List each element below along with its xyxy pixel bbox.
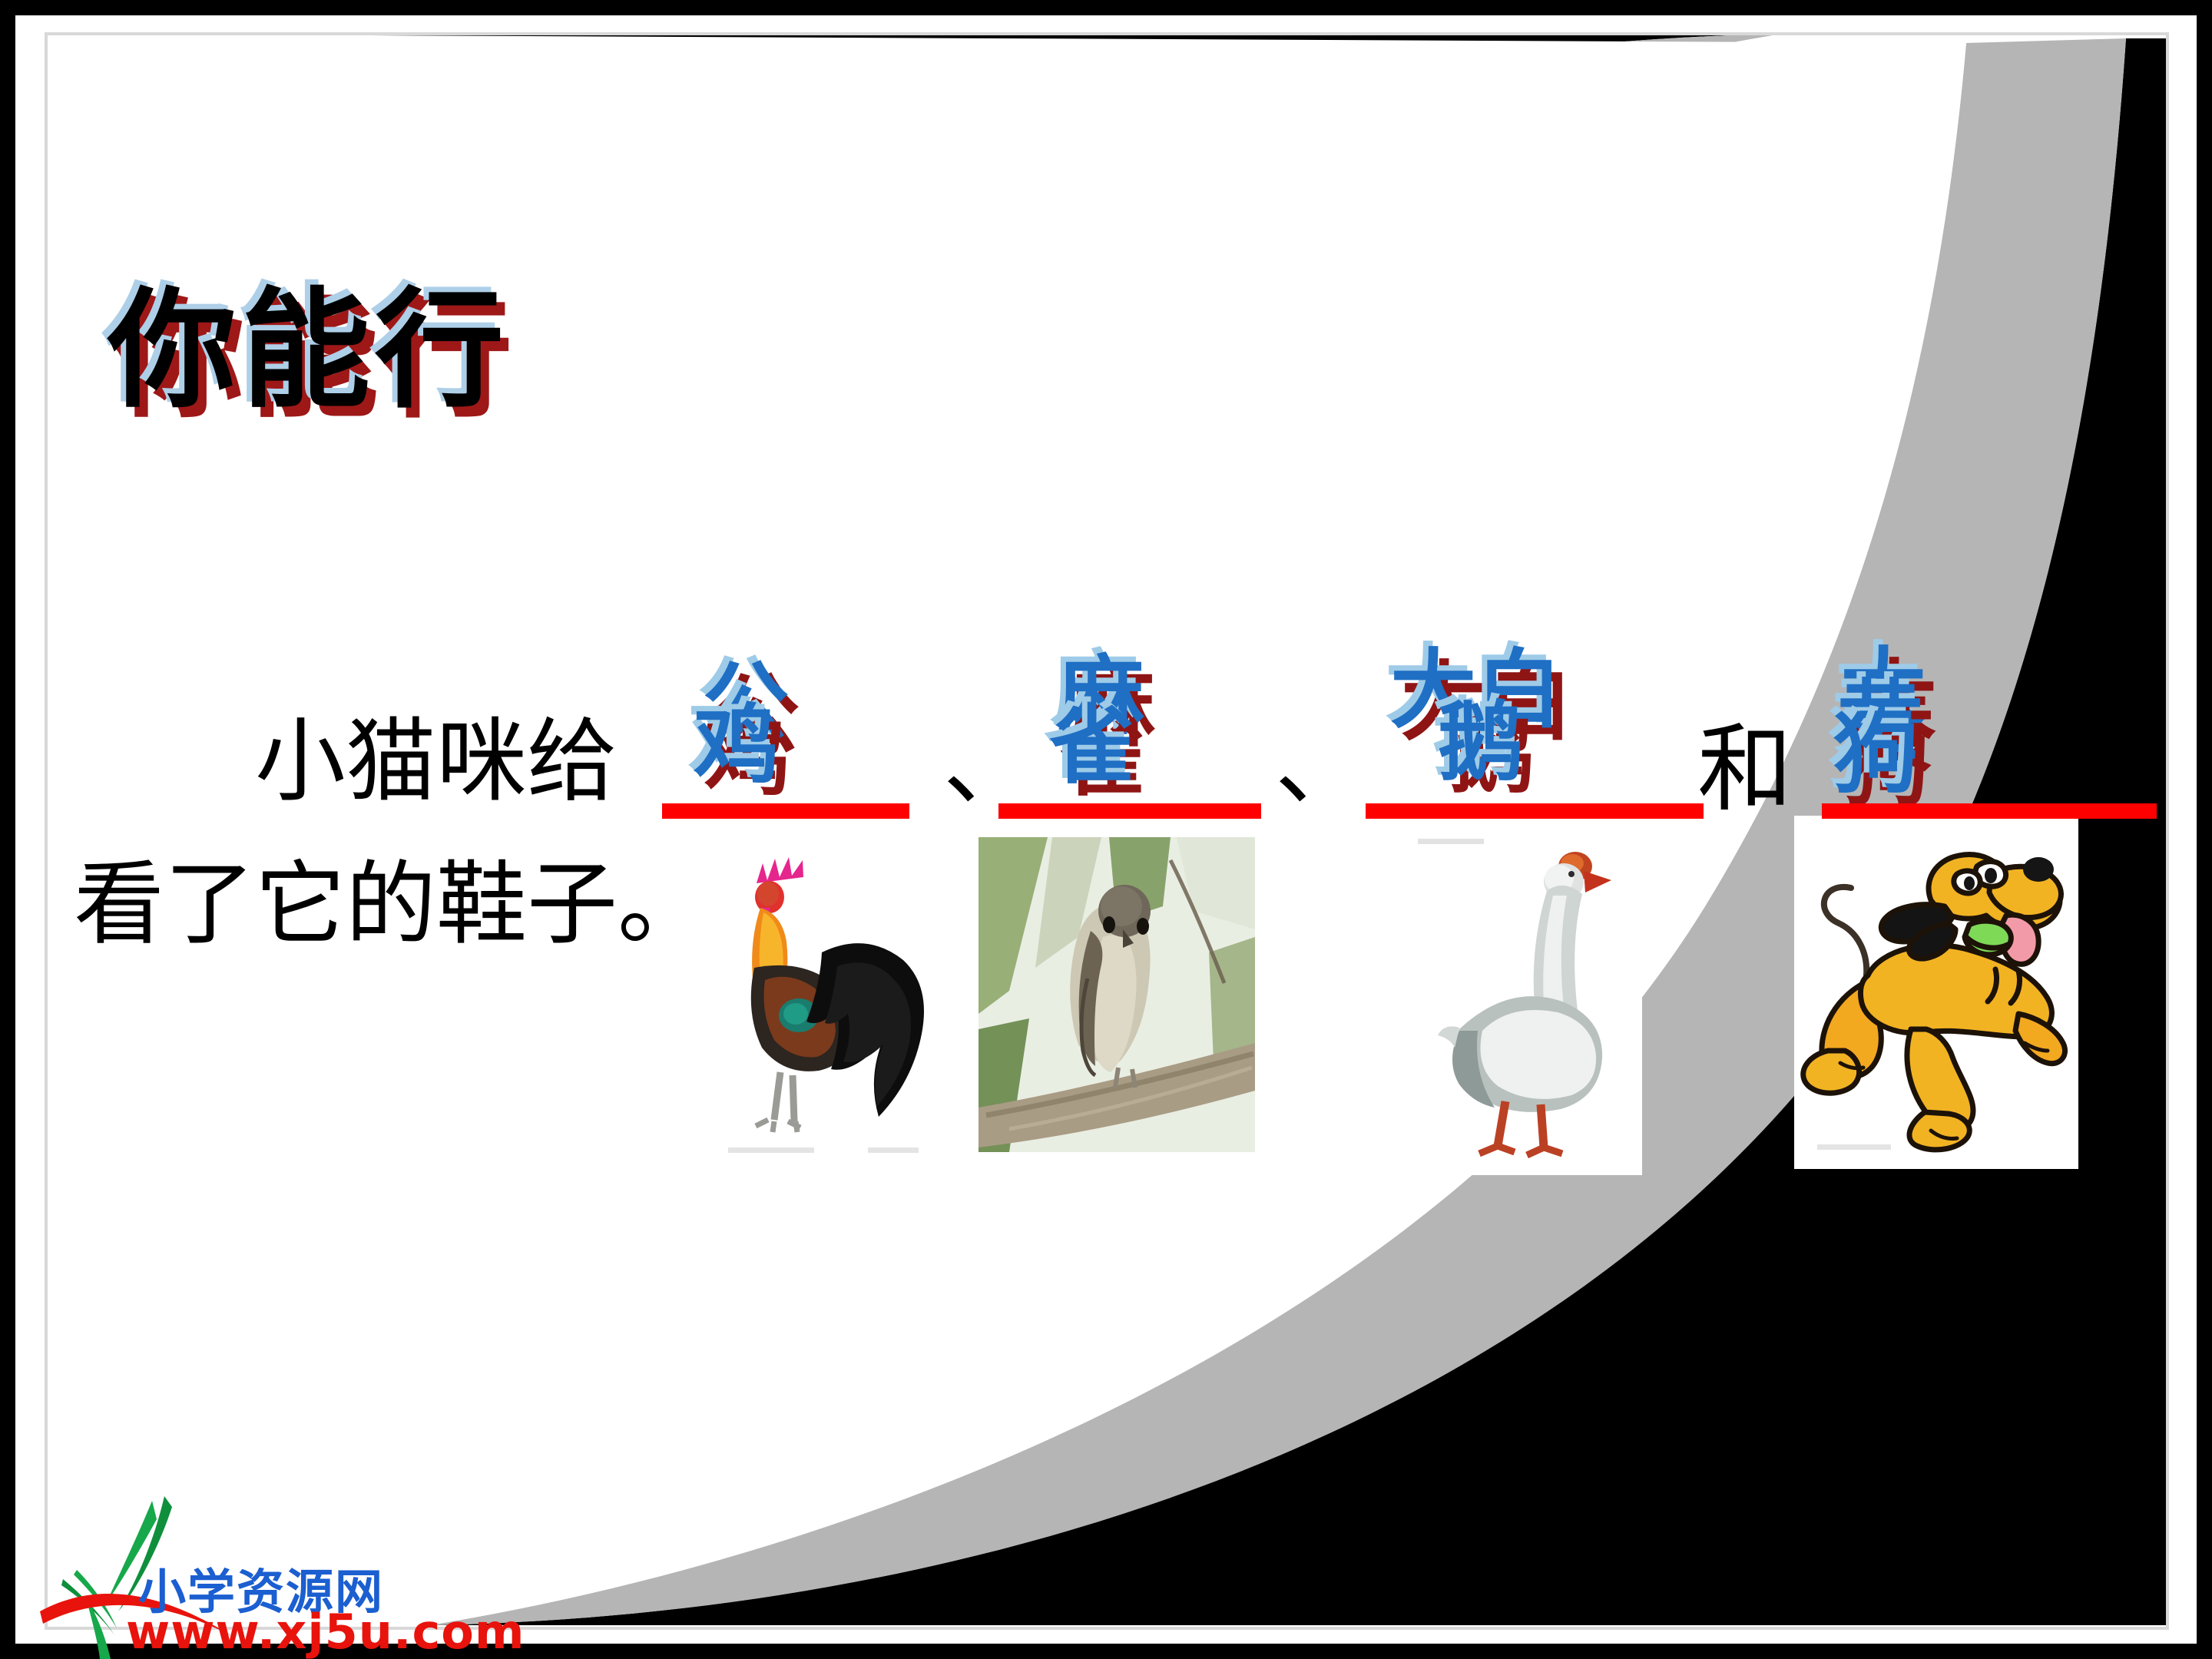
sparrow-illustration bbox=[979, 837, 1255, 1152]
body-line1-text: 小猫咪给 bbox=[255, 708, 618, 814]
page-title: 你能行 你能行 你能行 bbox=[108, 286, 508, 415]
watermark-url: www.xj5u.com bbox=[126, 1604, 525, 1659]
picture-goose bbox=[1412, 822, 1642, 1175]
conjunction-he: 和 bbox=[1697, 691, 1793, 829]
body-line-1: 小猫咪给 bbox=[74, 691, 618, 831]
title-main-layer: 你能行 bbox=[108, 275, 508, 426]
maque-bottom-main: 雀 bbox=[1049, 713, 1135, 780]
goose-illustration bbox=[1412, 822, 1642, 1175]
separator-2: 、 bbox=[1275, 691, 1366, 823]
watermark: 小学资源网 www.xj5u.com bbox=[40, 1488, 516, 1659]
blank-underline-1 bbox=[662, 803, 909, 819]
body-line-2: 看了它的鞋子。 bbox=[74, 834, 708, 974]
dabaie-bottom-main: 鹅 bbox=[1438, 710, 1524, 777]
blank-underline-2 bbox=[998, 803, 1261, 819]
blank-underline-4 bbox=[1822, 803, 2157, 819]
gongji-bottom-main: 鸡 bbox=[694, 713, 780, 780]
blank-underline-3 bbox=[1366, 803, 1704, 819]
rooster-illustration bbox=[714, 837, 937, 1167]
picture-dog bbox=[1794, 816, 2078, 1169]
picture-sparrow bbox=[979, 837, 1255, 1152]
slide-canvas: 你能行 你能行 你能行 小猫咪给 看了它的鞋子。 公 公 公 鸡 鸡 鸡 、 麻… bbox=[0, 0, 2212, 1659]
cartoon-dog-illustration bbox=[1794, 816, 2078, 1169]
picture-rooster bbox=[714, 837, 937, 1167]
dahuanggou-bottom-main: 狗 bbox=[1833, 722, 1919, 789]
